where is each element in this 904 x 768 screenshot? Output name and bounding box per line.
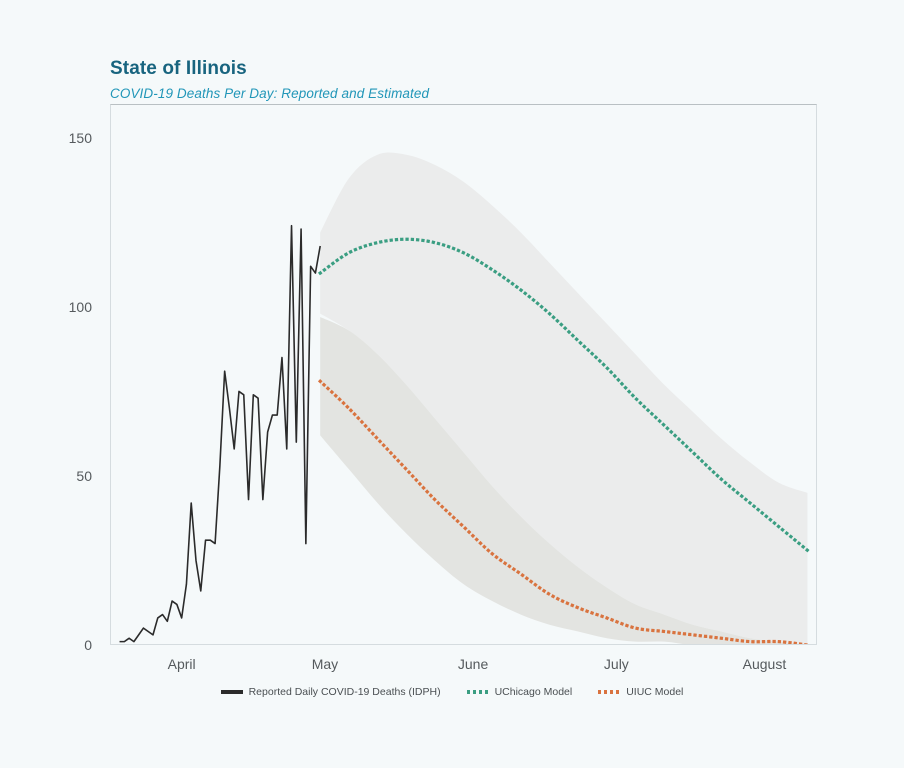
page-title: State of Illinois (110, 58, 247, 80)
y-axis-tick: 50 (76, 468, 92, 484)
y-axis-tick: 0 (84, 637, 92, 653)
legend-label: UIUC Model (626, 686, 683, 698)
legend-label: UChicago Model (495, 686, 573, 698)
legend-item[interactable]: UIUC Model (598, 686, 683, 698)
legend-swatch-icon (598, 690, 620, 694)
series-line (120, 226, 321, 642)
legend-swatch-icon (221, 690, 243, 694)
plot-area (110, 104, 817, 645)
y-axis-labels: 050100150 (0, 104, 104, 645)
chart-legend: Reported Daily COVID-19 Deaths (IDPH)UCh… (0, 686, 904, 698)
y-axis-tick: 100 (69, 299, 92, 315)
chart-canvas (110, 104, 817, 645)
legend-label: Reported Daily COVID-19 Deaths (IDPH) (249, 686, 441, 698)
legend-swatch-icon (467, 690, 489, 694)
chart-page: State of Illinois COVID-19 Deaths Per Da… (0, 0, 904, 768)
x-axis-tick: May (312, 656, 338, 672)
x-axis-tick: April (168, 656, 196, 672)
y-axis-tick: 150 (69, 130, 92, 146)
x-axis-labels: AprilMayJuneJulyAugust (110, 648, 817, 678)
legend-item[interactable]: UChicago Model (467, 686, 573, 698)
page-subtitle: COVID-19 Deaths Per Day: Reported and Es… (110, 86, 429, 101)
x-axis-tick: August (743, 656, 787, 672)
legend-item[interactable]: Reported Daily COVID-19 Deaths (IDPH) (221, 686, 441, 698)
x-axis-tick: June (458, 656, 488, 672)
x-axis-tick: July (604, 656, 629, 672)
